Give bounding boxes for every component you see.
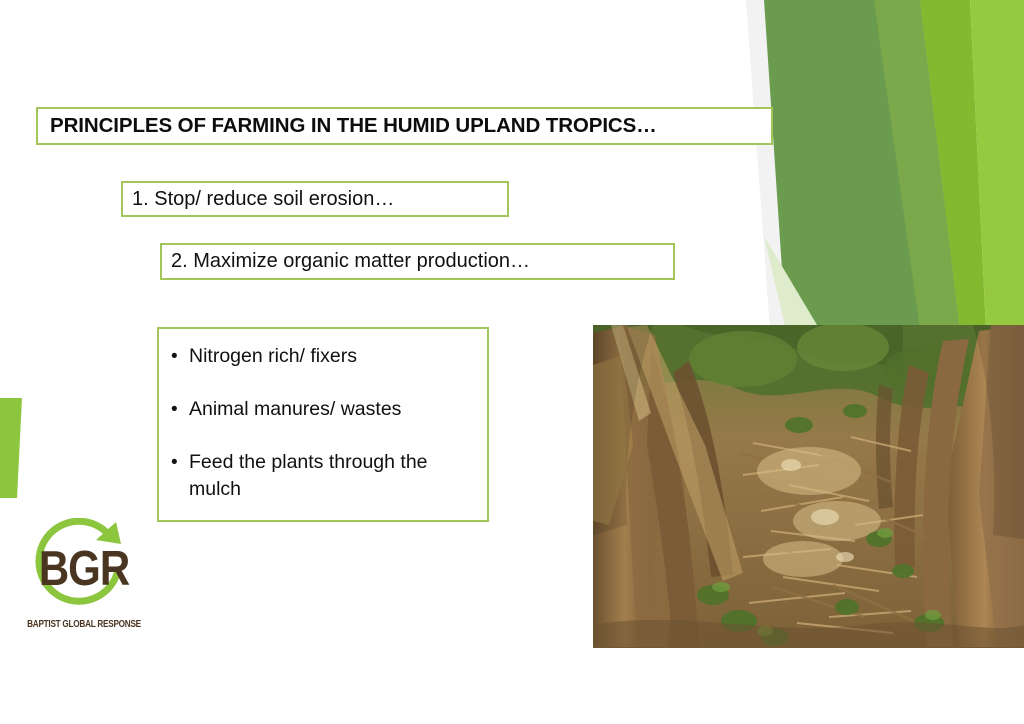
- facet-decoration-top-right: [724, 0, 1024, 330]
- page-title: PRINCIPLES OF FARMING IN THE HUMID UPLAN…: [50, 114, 657, 138]
- bullet-icon: •: [171, 396, 189, 423]
- presentation-slide: PRINCIPLES OF FARMING IN THE HUMID UPLAN…: [0, 0, 1024, 724]
- bullet-icon: •: [171, 449, 189, 476]
- principle-box-2: 2. Maximize organic matter production…: [160, 243, 675, 280]
- bgr-tagline: BAPTIST GLOBAL RESPONSE: [25, 618, 143, 629]
- farm-mulch-photo: [593, 325, 1024, 648]
- bullet-label: Feed the plants through the mulch: [189, 449, 477, 503]
- bullet-label: Animal manures/ wastes: [189, 396, 401, 423]
- principle-box-1: 1. Stop/ reduce soil erosion…: [121, 181, 509, 217]
- bgr-logo: BGR BAPTIST GLOBAL RESPONSE: [24, 518, 144, 640]
- bgr-wordmark: BGR: [39, 540, 130, 596]
- facet-decoration-left: [0, 398, 44, 528]
- bullet-list-box: • Nitrogen rich/ fixers • Animal manures…: [157, 327, 489, 522]
- list-item: • Animal manures/ wastes: [171, 396, 477, 423]
- slide-title-box: PRINCIPLES OF FARMING IN THE HUMID UPLAN…: [36, 107, 773, 145]
- list-item: • Feed the plants through the mulch: [171, 449, 477, 503]
- bullet-label: Nitrogen rich/ fixers: [189, 343, 357, 370]
- list-item: • Nitrogen rich/ fixers: [171, 343, 477, 370]
- principle-label-2: 2. Maximize organic matter production…: [171, 250, 530, 273]
- principle-label-1: 1. Stop/ reduce soil erosion…: [132, 188, 394, 211]
- bullet-icon: •: [171, 343, 189, 370]
- bgr-circular-arrow-icon: BGR: [24, 518, 144, 618]
